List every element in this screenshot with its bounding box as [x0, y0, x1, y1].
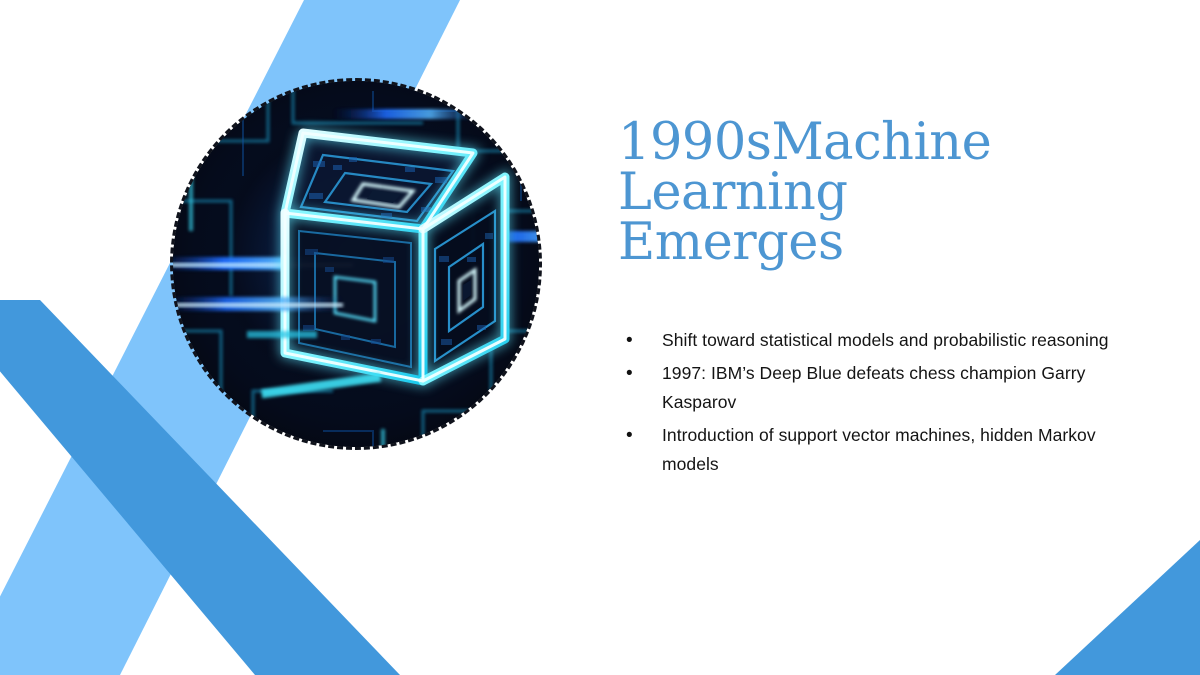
list-item-text: 1997: IBM’s Deep Blue defeats chess cham…: [662, 359, 1118, 418]
bullet-marker-icon: •: [618, 326, 662, 356]
list-item: • Shift toward statistical models and pr…: [618, 326, 1118, 356]
hero-image: [173, 81, 539, 447]
light-beam-top: [333, 109, 483, 119]
bullet-list: • Shift toward statistical models and pr…: [618, 326, 1118, 483]
list-item-text: Introduction of support vector machines,…: [662, 421, 1118, 480]
list-item-text: Shift toward statistical models and prob…: [662, 326, 1118, 356]
title-block: 1990sMachine Learning Emerges: [618, 118, 1088, 268]
page-title: 1990sMachine Learning Emerges: [618, 118, 1088, 268]
slide-canvas: 1990sMachine Learning Emerges • Shift to…: [0, 0, 1200, 675]
list-item: • 1997: IBM’s Deep Blue defeats chess ch…: [618, 359, 1118, 418]
bottom-right-triangle: [1055, 540, 1200, 675]
list-item: • Introduction of support vector machine…: [618, 421, 1118, 480]
bullet-marker-icon: •: [618, 359, 662, 389]
neon-cube-illustration: [173, 81, 539, 447]
bullet-marker-icon: •: [618, 421, 662, 451]
